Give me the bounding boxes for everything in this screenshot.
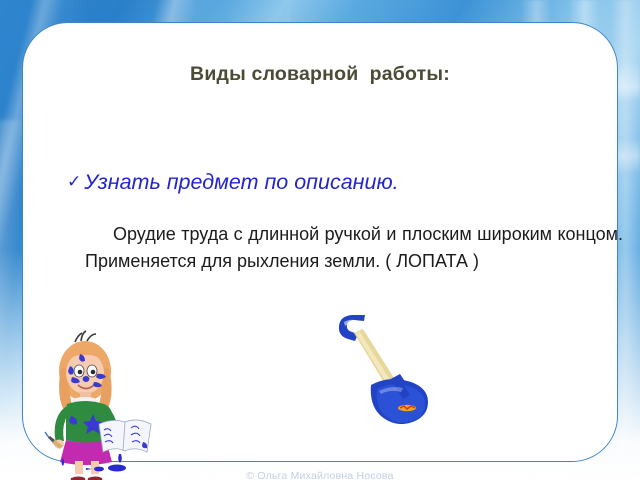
- riddle-answer: ( ЛОПАТА ): [385, 251, 479, 271]
- shovel-illustration: [319, 309, 449, 424]
- slide-canvas: Виды словарной работы: ✓ Узнать предмет …: [0, 0, 640, 480]
- content-card: Виды словарной работы: ✓ Узнать предмет …: [22, 22, 618, 462]
- check-mark-icon: ✓: [67, 173, 81, 190]
- schoolgirl-illustration: [37, 328, 159, 480]
- riddle-paragraph: Орудие труда с длинной ручкой и плоским …: [85, 221, 623, 276]
- bullet-heading-label: Узнать предмет по описанию.: [84, 170, 398, 195]
- slide-title: Виды словарной работы:: [23, 63, 617, 86]
- riddle-text: Орудие труда с длинной ручкой и плоским …: [85, 224, 623, 271]
- bullet-heading: ✓ Узнать предмет по описанию.: [67, 170, 399, 195]
